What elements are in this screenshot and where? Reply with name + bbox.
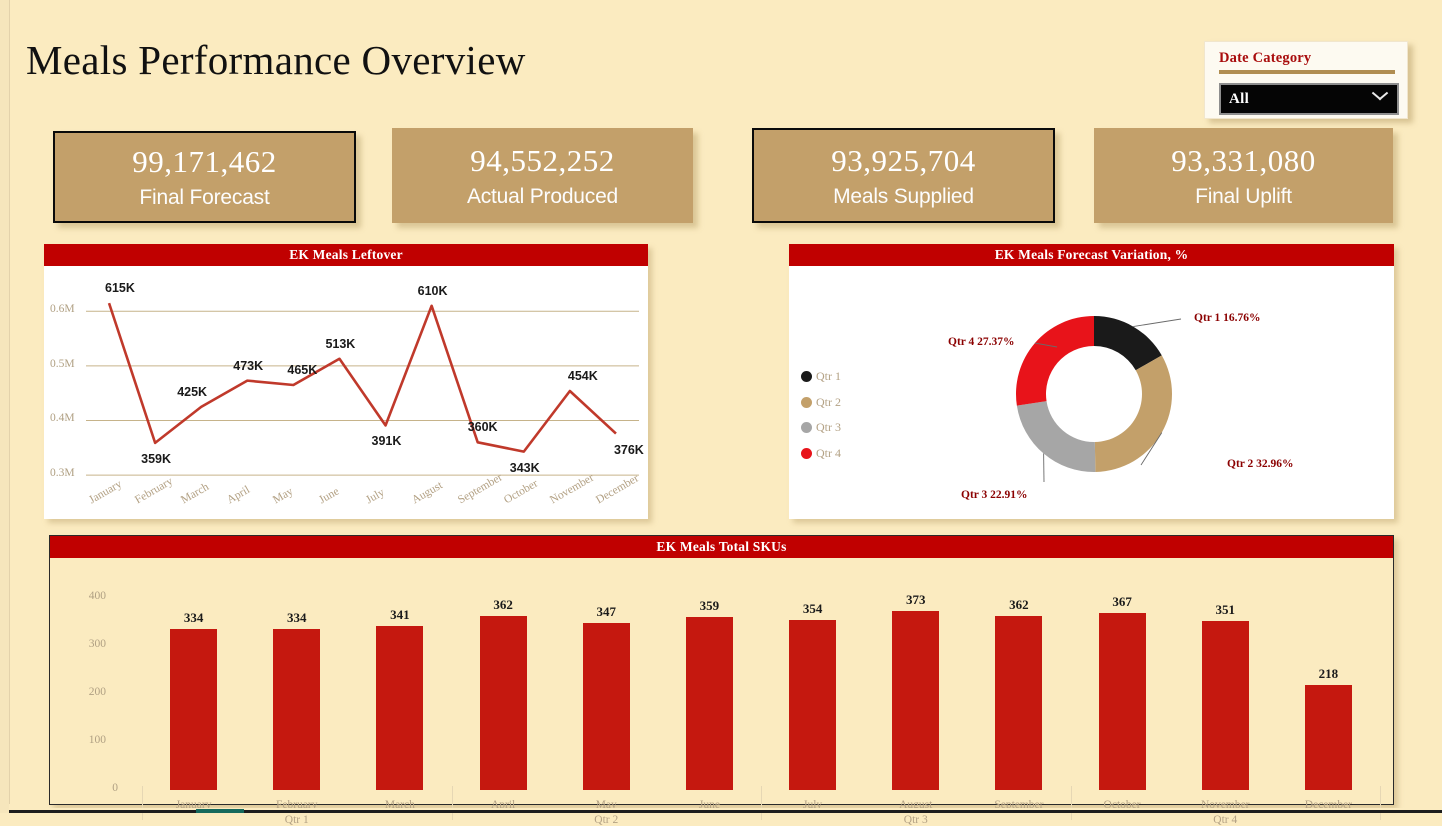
- leftover-chart-panel[interactable]: EK Meals Leftover 0.3M0.4M0.5M0.6M615K35…: [44, 244, 648, 519]
- skus-data-label: 362: [491, 597, 515, 613]
- leftover-data-label: 425K: [177, 385, 207, 399]
- date-category-dropdown[interactable]: All: [1219, 83, 1399, 115]
- skus-quarter-label: Qtr 2: [556, 814, 656, 826]
- legend-label: Qtr 2: [816, 395, 841, 410]
- skus-data-label: 341: [388, 607, 412, 623]
- variation-legend-item[interactable]: Qtr 2: [801, 395, 841, 410]
- kpi-label: Meals Supplied: [833, 186, 974, 207]
- skus-data-label: 362: [1007, 597, 1031, 613]
- legend-swatch-icon: [801, 422, 812, 433]
- skus-data-label: 218: [1316, 666, 1340, 682]
- page-tab-indicator[interactable]: [196, 809, 244, 813]
- skus-bar[interactable]: [995, 616, 1042, 790]
- leftover-chart-title: EK Meals Leftover: [44, 244, 648, 266]
- variation-slice[interactable]: [1017, 401, 1096, 472]
- chevron-down-icon[interactable]: [1372, 92, 1387, 107]
- leftover-chart-body[interactable]: 0.3M0.4M0.5M0.6M615K359K425K473K465K513K…: [44, 266, 648, 519]
- variation-chart-body[interactable]: Qtr 1 16.76%Qtr 2 32.96%Qtr 3 22.91%Qtr …: [789, 266, 1394, 519]
- kpi-card-final-forecast[interactable]: 99,171,462Final Forecast: [53, 131, 356, 223]
- kpi-value: 94,552,252: [470, 145, 615, 176]
- variation-donut-svg: [789, 266, 1394, 519]
- skus-data-label: 334: [285, 610, 309, 626]
- kpi-label: Actual Produced: [467, 186, 618, 207]
- skus-y-tick: 300: [58, 638, 106, 650]
- variation-chart-title: EK Meals Forecast Variation, %: [789, 244, 1394, 266]
- leftover-data-label: 610K: [418, 284, 448, 298]
- leftover-y-tick: 0.6M: [50, 303, 75, 315]
- variation-legend-item[interactable]: Qtr 1: [801, 369, 841, 384]
- variation-callout-label: Qtr 2 32.96%: [1227, 458, 1294, 470]
- variation-legend-item[interactable]: Qtr 3: [801, 420, 841, 435]
- leftover-data-label: 465K: [287, 363, 317, 377]
- skus-data-label: 373: [904, 592, 928, 608]
- skus-data-label: 367: [1110, 594, 1134, 610]
- skus-y-tick: 100: [58, 734, 106, 746]
- variation-slice[interactable]: [1016, 316, 1094, 406]
- skus-quarter-label: Qtr 3: [866, 814, 966, 826]
- kpi-label: Final Forecast: [139, 187, 269, 208]
- variation-callout-label: Qtr 4 27.37%: [948, 336, 1015, 348]
- leftover-y-tick: 0.5M: [50, 358, 75, 370]
- leftover-data-label: 615K: [105, 281, 135, 295]
- variation-callout-label: Qtr 1 16.76%: [1194, 312, 1261, 324]
- skus-data-label: 334: [182, 610, 206, 626]
- legend-label: Qtr 4: [816, 446, 841, 461]
- legend-swatch-icon: [801, 371, 812, 382]
- date-category-value: All: [1221, 91, 1249, 108]
- legend-label: Qtr 1: [816, 369, 841, 384]
- skus-bar[interactable]: [1305, 685, 1352, 790]
- leftover-y-tick: 0.3M: [50, 467, 75, 479]
- skus-quarter-label: Qtr 4: [1175, 814, 1275, 826]
- skus-data-label: 354: [801, 601, 825, 617]
- kpi-value: 93,331,080: [1171, 145, 1316, 176]
- leftover-data-label: 359K: [141, 452, 171, 466]
- variation-slice[interactable]: [1095, 355, 1172, 472]
- page-rail-divider: [9, 0, 10, 804]
- skus-chart-title: EK Meals Total SKUs: [50, 536, 1393, 558]
- leftover-data-label: 513K: [325, 337, 355, 351]
- leftover-data-label: 454K: [568, 369, 598, 383]
- skus-y-tick: 400: [58, 590, 106, 602]
- skus-chart-panel[interactable]: EK Meals Total SKUs 0100200300400334Janu…: [49, 535, 1394, 805]
- skus-bar[interactable]: [273, 629, 320, 790]
- leftover-data-label: 343K: [510, 461, 540, 475]
- kpi-value: 99,171,462: [132, 146, 277, 177]
- skus-bar[interactable]: [789, 620, 836, 790]
- leftover-data-label: 391K: [372, 434, 402, 448]
- kpi-value: 93,925,704: [831, 145, 976, 176]
- skus-quarter-label: Qtr 1: [247, 814, 347, 826]
- leftover-data-label: 473K: [233, 359, 263, 373]
- legend-swatch-icon: [801, 397, 812, 408]
- skus-bar[interactable]: [686, 617, 733, 790]
- kpi-card-final-uplift[interactable]: 93,331,080Final Uplift: [1094, 128, 1393, 223]
- kpi-label: Final Uplift: [1195, 186, 1292, 207]
- kpi-card-actual-produced[interactable]: 94,552,252Actual Produced: [392, 128, 693, 223]
- leftover-data-label: 376K: [614, 443, 644, 457]
- skus-bar[interactable]: [1099, 613, 1146, 790]
- date-category-slicer[interactable]: Date Category All: [1204, 41, 1408, 119]
- variation-legend-item[interactable]: Qtr 4: [801, 446, 841, 461]
- variation-callout-label: Qtr 3 22.91%: [961, 489, 1028, 501]
- leftover-y-tick: 0.4M: [50, 412, 75, 424]
- skus-bar[interactable]: [480, 616, 527, 790]
- skus-bar[interactable]: [583, 623, 630, 790]
- skus-data-label: 347: [594, 604, 618, 620]
- skus-data-label: 359: [697, 598, 721, 614]
- skus-y-tick: 0: [70, 782, 118, 794]
- variation-chart-panel[interactable]: EK Meals Forecast Variation, % Qtr 1 16.…: [789, 244, 1394, 519]
- page-title: Meals Performance Overview: [26, 36, 526, 84]
- skus-bar[interactable]: [1202, 621, 1249, 790]
- legend-swatch-icon: [801, 448, 812, 459]
- date-category-label: Date Category: [1219, 50, 1311, 67]
- skus-bar[interactable]: [892, 611, 939, 790]
- kpi-card-meals-supplied[interactable]: 93,925,704Meals Supplied: [752, 128, 1055, 223]
- skus-bar[interactable]: [376, 626, 423, 790]
- page-left-rail: [0, 0, 9, 813]
- skus-bar[interactable]: [170, 629, 217, 790]
- legend-label: Qtr 3: [816, 420, 841, 435]
- skus-chart-body[interactable]: 0100200300400334January334FebruaryQtr 13…: [50, 558, 1393, 804]
- skus-quarter-separator: [1380, 786, 1381, 820]
- leftover-data-label: 360K: [468, 420, 498, 434]
- leftover-line-svg: [44, 266, 648, 519]
- skus-y-tick: 200: [58, 686, 106, 698]
- skus-data-label: 351: [1213, 602, 1237, 618]
- slicer-underline: [1219, 70, 1395, 74]
